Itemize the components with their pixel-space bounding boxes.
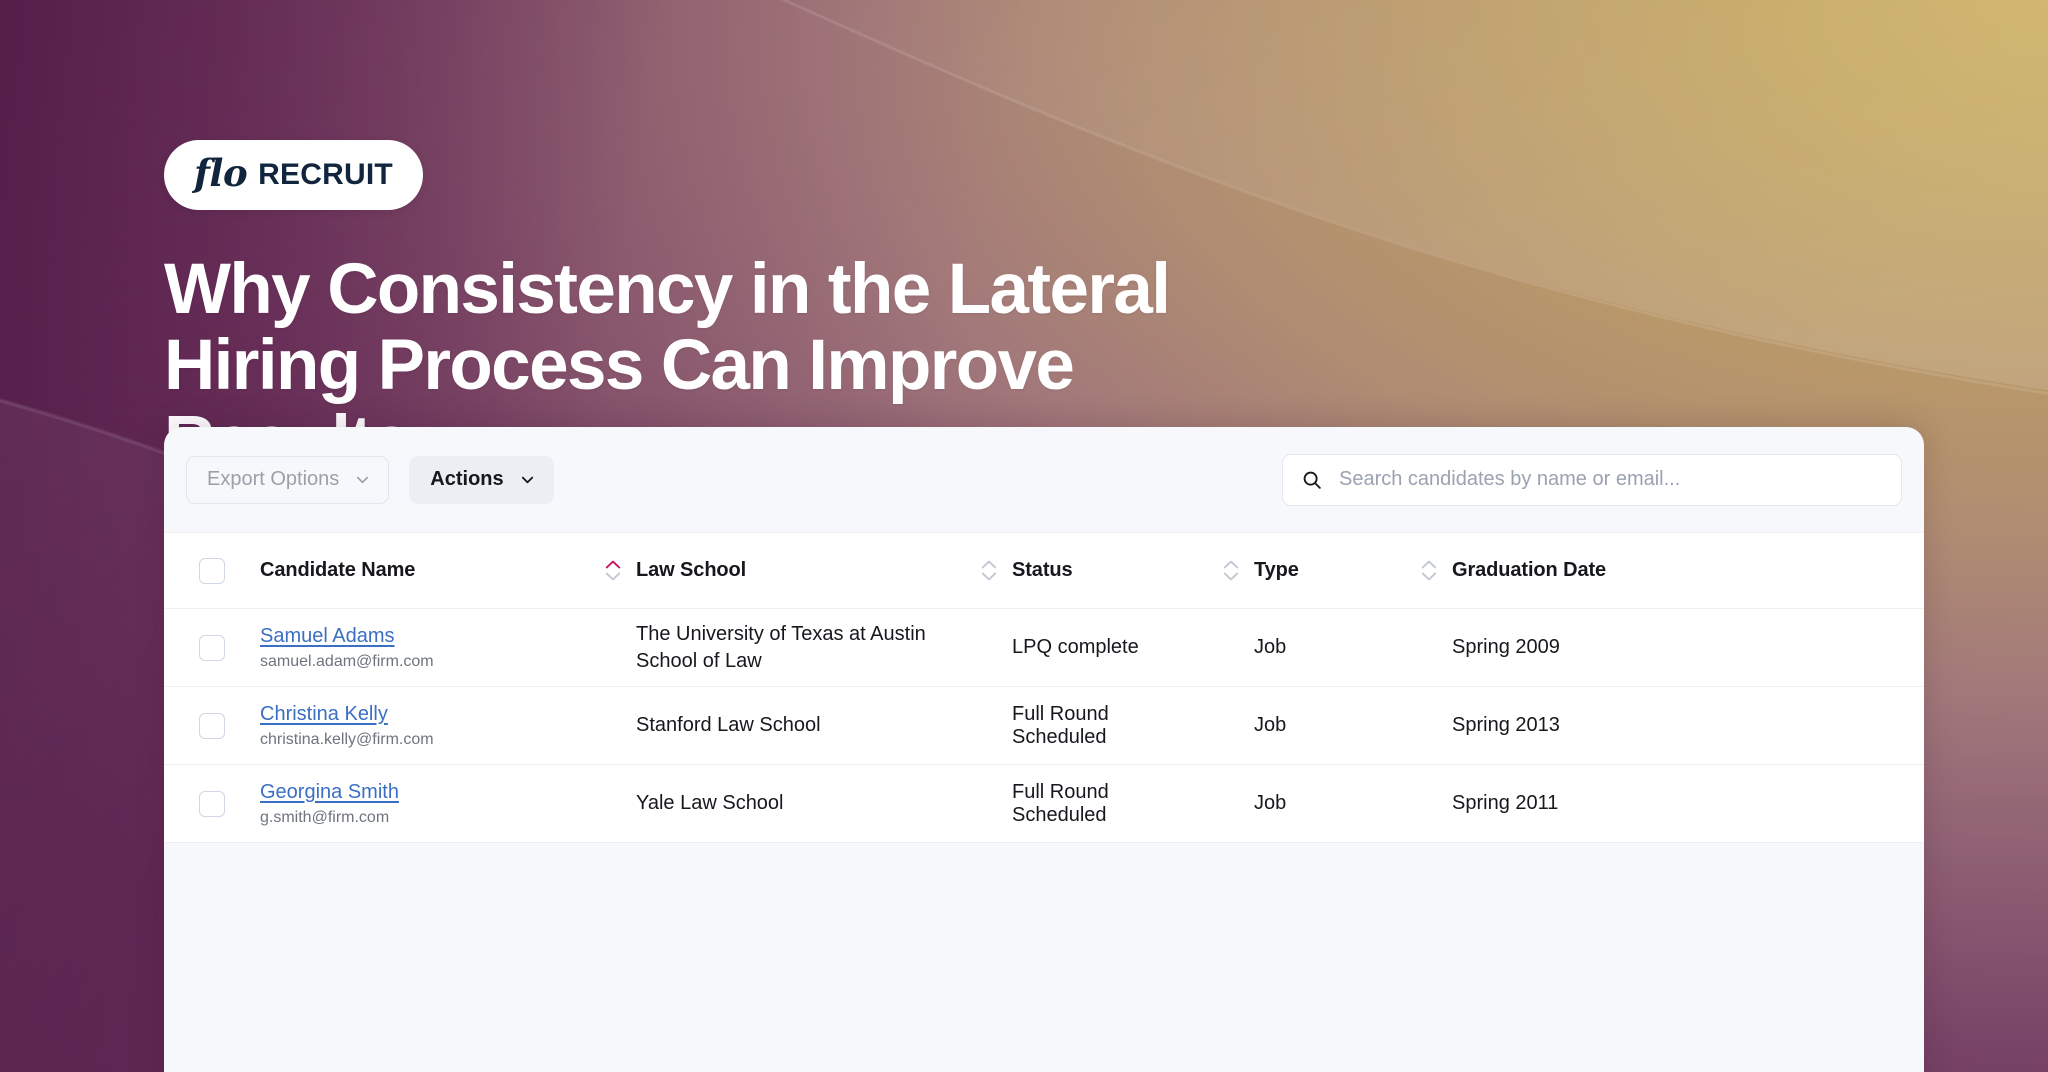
- candidate-email: samuel.adam@firm.com: [260, 653, 590, 671]
- search-icon: [1301, 469, 1323, 491]
- page-root: flo RECRUIT Why Consistency in the Later…: [0, 0, 2048, 1072]
- sort-control-law-school[interactable]: [966, 560, 1012, 581]
- chevron-down-icon: [981, 572, 997, 581]
- candidate-email: christina.kelly@firm.com: [260, 731, 590, 749]
- type-cell: Job: [1254, 714, 1406, 737]
- export-options-label: Export Options: [207, 468, 339, 491]
- type-cell: Job: [1254, 636, 1406, 659]
- candidate-name-link[interactable]: Samuel Adams: [260, 625, 395, 648]
- type-cell: Job: [1254, 792, 1406, 815]
- row-select-cell: [164, 791, 260, 817]
- select-all-checkbox[interactable]: [199, 558, 225, 584]
- flo-wordmark-icon: flo: [194, 155, 247, 192]
- row-checkbox[interactable]: [199, 635, 225, 661]
- candidates-card: Export Options Actions: [164, 427, 1924, 1072]
- export-options-button[interactable]: Export Options: [186, 456, 389, 504]
- chevron-up-icon: [1223, 560, 1239, 569]
- actions-label: Actions: [430, 468, 503, 491]
- table-toolbar: Export Options Actions: [164, 427, 1924, 532]
- candidate-name-link[interactable]: Georgina Smith: [260, 781, 399, 804]
- table-row[interactable]: Christina Kelly christina.kelly@firm.com…: [164, 687, 1924, 765]
- select-all-cell: [164, 558, 260, 584]
- status-cell: LPQ complete: [1012, 636, 1208, 659]
- sort-chevrons-icon[interactable]: [605, 560, 621, 581]
- candidate-cell: Christina Kelly christina.kelly@firm.com: [260, 703, 590, 749]
- chevron-up-icon: [981, 560, 997, 569]
- sort-chevrons-icon[interactable]: [981, 560, 997, 581]
- column-header-status[interactable]: Status: [1012, 559, 1208, 582]
- search-box[interactable]: [1282, 454, 1902, 506]
- chevron-down-icon: [520, 472, 535, 487]
- row-select-cell: [164, 713, 260, 739]
- row-checkbox[interactable]: [199, 791, 225, 817]
- column-header-graduation-date[interactable]: Graduation Date: [1452, 559, 1692, 582]
- candidate-cell: Samuel Adams samuel.adam@firm.com: [260, 625, 590, 671]
- chevron-up-icon: [1421, 560, 1437, 569]
- law-school-cell: Stanford Law School: [636, 712, 966, 738]
- status-cell: Full Round Scheduled: [1012, 781, 1208, 827]
- status-cell: Full Round Scheduled: [1012, 703, 1208, 749]
- row-select-cell: [164, 635, 260, 661]
- candidate-name-link[interactable]: Christina Kelly: [260, 703, 388, 726]
- chevron-up-icon: [605, 560, 621, 569]
- sort-chevrons-icon[interactable]: [1421, 560, 1437, 581]
- column-header-type[interactable]: Type: [1254, 559, 1406, 582]
- candidates-table: Candidate Name Law School Status: [164, 532, 1924, 843]
- law-school-cell: The University of Texas at Austin School…: [636, 621, 966, 674]
- chevron-down-icon: [1421, 572, 1437, 581]
- sort-chevrons-icon[interactable]: [1223, 560, 1239, 581]
- sort-control-type[interactable]: [1406, 560, 1452, 581]
- sort-control-status[interactable]: [1208, 560, 1254, 581]
- recruit-wordmark: RECRUIT: [258, 160, 393, 190]
- graduation-date-cell: Spring 2011: [1452, 792, 1692, 815]
- table-row[interactable]: Samuel Adams samuel.adam@firm.com The Un…: [164, 609, 1924, 687]
- column-header-law-school[interactable]: Law School: [636, 559, 966, 582]
- search-input[interactable]: [1337, 467, 1883, 492]
- graduation-date-cell: Spring 2009: [1452, 636, 1692, 659]
- row-checkbox[interactable]: [199, 713, 225, 739]
- candidate-email: g.smith@firm.com: [260, 809, 590, 827]
- law-school-cell: Yale Law School: [636, 790, 966, 816]
- chevron-down-icon: [355, 472, 370, 487]
- chevron-down-icon: [1223, 572, 1239, 581]
- flo-recruit-logo[interactable]: flo RECRUIT: [164, 140, 423, 210]
- candidate-cell: Georgina Smith g.smith@firm.com: [260, 781, 590, 827]
- graduation-date-cell: Spring 2013: [1452, 714, 1692, 737]
- table-row[interactable]: Georgina Smith g.smith@firm.com Yale Law…: [164, 765, 1924, 843]
- column-header-candidate-name[interactable]: Candidate Name: [260, 559, 590, 582]
- sort-control-candidate-name[interactable]: [590, 560, 636, 581]
- chevron-down-icon: [605, 572, 621, 581]
- actions-button[interactable]: Actions: [409, 456, 553, 504]
- table-header-row: Candidate Name Law School Status: [164, 533, 1924, 609]
